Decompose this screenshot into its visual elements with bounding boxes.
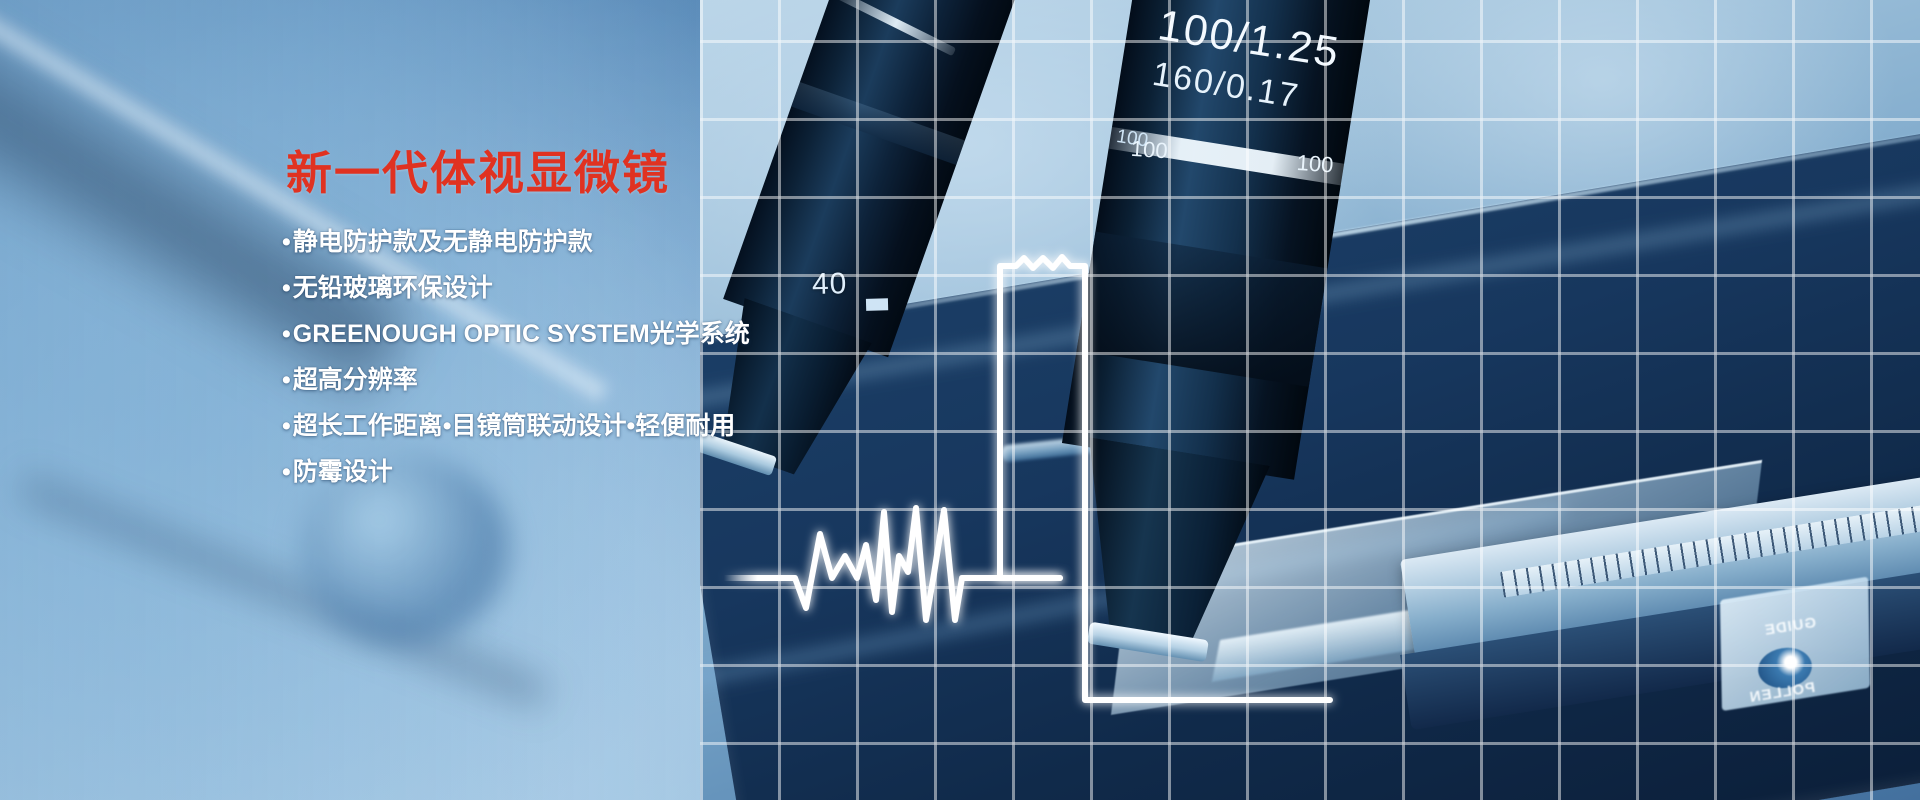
banner-copy: 新一代体视显微镜 •静电防护款及无静电防护款 •无铅玻璃环保设计 •GREENO… — [282, 150, 902, 506]
feature-bullet-6: •防霉设计 — [282, 460, 902, 485]
objective-mag-label-right: 100 — [1296, 150, 1334, 178]
feature-bullet-1-label: 静电防护款及无静电防护款 — [293, 228, 593, 256]
feature-bullet-4-label: 超高分辨率 — [293, 366, 418, 394]
bullet-marker-icon: • — [282, 320, 291, 348]
bullet-marker-icon: • — [282, 228, 291, 256]
bullet-marker-icon: • — [282, 412, 291, 440]
feature-bullet-3: •GREENOUGH OPTIC SYSTEM光学系统 — [282, 322, 902, 347]
feature-bullet-2-label: 无铅玻璃环保设计 — [293, 274, 493, 302]
objective-mag-label-center: 100 — [1130, 136, 1168, 164]
feature-bullet-6-label: 防霉设计 — [293, 458, 393, 486]
bullet-marker-icon: • — [282, 366, 291, 394]
bullet-marker-icon: • — [282, 458, 291, 486]
objective-taper — [1059, 437, 1269, 653]
feature-bullet-2: •无铅玻璃环保设计 — [282, 276, 902, 301]
feature-bullet-5: •超长工作距离•目镜筒联动设计•轻便耐用 — [282, 414, 902, 439]
feature-bullet-4: •超高分辨率 — [282, 368, 902, 393]
feature-bullet-3-label: GREENOUGH OPTIC SYSTEM光学系统 — [293, 320, 750, 348]
feature-bullet-5-label: 超长工作距离•目镜筒联动设计•轻便耐用 — [293, 412, 736, 440]
bullet-marker-icon: • — [282, 274, 291, 302]
page-title: 新一代体视显微镜 — [286, 150, 902, 196]
feature-bullet-1: •静电防护款及无静电防护款 — [282, 230, 902, 255]
product-banner: GUIDE POLLEN 40 100/1.25 160/0.17 100 10… — [0, 0, 1920, 800]
